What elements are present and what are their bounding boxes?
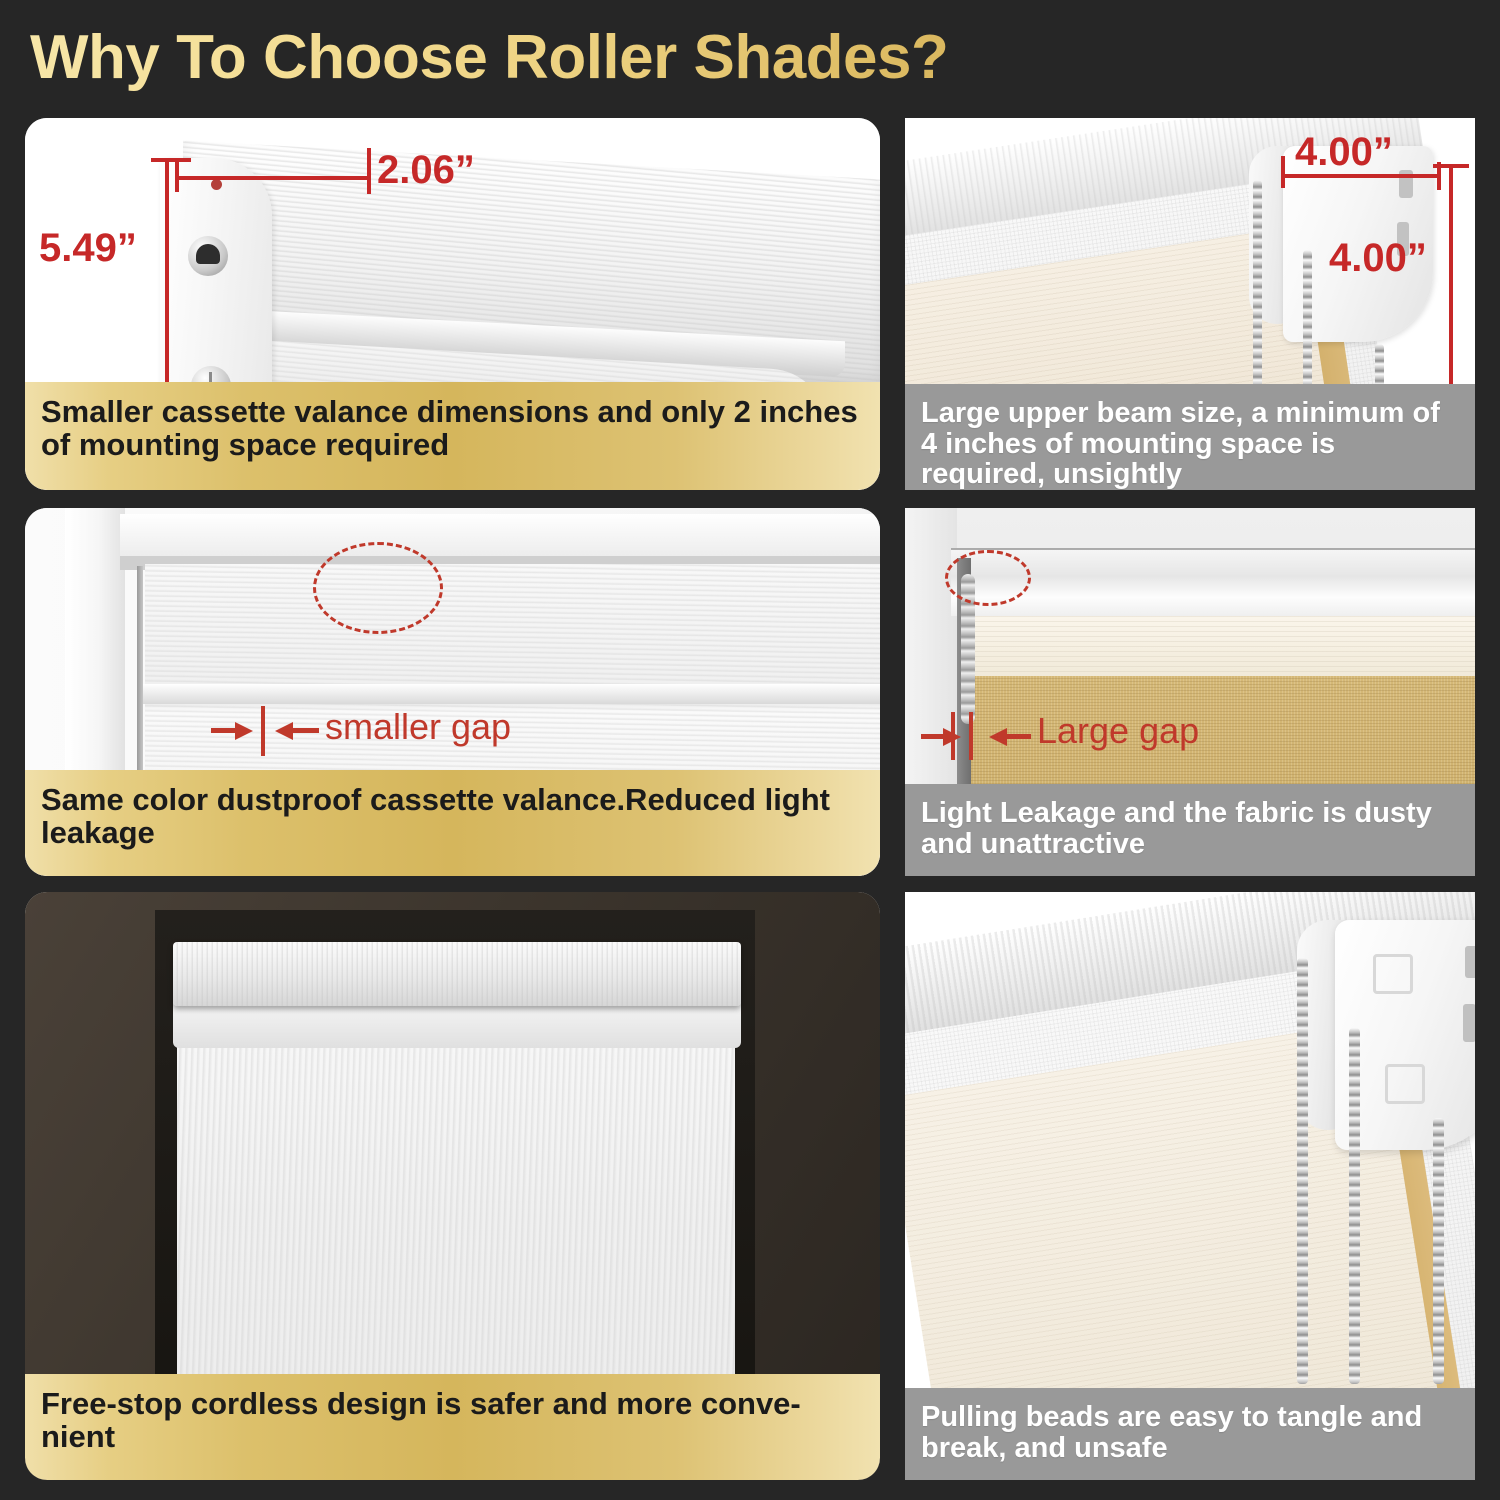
bracket-slot-upper [1465,946,1475,978]
panel-caption-large-gap: Light Leakage and the fabric is dusty an… [905,784,1475,876]
gap-measure-bar [261,706,265,756]
panel-caption-smaller-gap: Same color dustproof cassette valance.Re… [25,770,880,876]
panel-cordless: Free-stop cordless design is safer and m… [25,892,880,1480]
roller-shade-fabric [177,1044,735,1394]
highlight-dashed-circle [313,542,443,634]
panel-caption-pull-beads: Pulling beads are easy to tangle and bre… [905,1388,1475,1480]
gap-arrow-right-icon [235,722,253,740]
window-frame-head [120,514,880,560]
cassette-rail [143,684,880,704]
width-dim-tick-left [175,158,179,192]
beam-height-dim-line [1449,164,1453,394]
bead-chain-left [1253,180,1262,410]
beam-width-label: 4.00” [1295,130,1393,175]
highlight-dashed-circle [945,550,1031,606]
height-dim-tick-top [151,158,191,162]
large-gap-label: Large gap [1037,710,1199,752]
gap-measure-bar-a [951,712,955,760]
width-dim-line [175,176,371,180]
gap-measure-bar-b [969,712,973,760]
width-dimension-label: 2.06” [377,148,475,193]
panel-smaller-gap: smaller gap Same color dustproof cassett… [25,508,880,876]
panel-cassette-dimensions: 2.06” 5.49” Smaller cassette valance dim… [25,118,880,490]
bead-chain-right [1433,1118,1444,1384]
bracket-emboss-lower [1385,1064,1425,1104]
gap-arrow-tail-left [921,734,945,739]
smaller-gap-label: smaller gap [325,706,511,748]
bracket-slot-lower [1463,1004,1475,1042]
mount-clip-upper [188,236,228,276]
gap-arrow-tail-left [211,728,237,733]
screw-head-icon [211,179,222,190]
gap-arrow-tail-right [1005,734,1031,739]
gap-arrow-tail-right [293,728,319,733]
gap-arrow-left-icon [275,722,293,740]
beam-width-tick-left [1281,156,1285,188]
cassette-headrail [173,942,741,1006]
panel-large-gap: Large gap Light Leakage and the fabric i… [905,508,1475,876]
panel-pull-beads: Pulling beads are easy to tangle and bre… [905,892,1475,1480]
panel-caption-cordless: Free-stop cordless design is safer and m… [25,1374,880,1480]
bead-chain-middle [1349,1028,1360,1384]
infographic-root: Why To Choose Roller Shades? 2.06” 5.49”… [0,0,1500,1500]
panel-caption-large-beam: Large upper beam size, a minimum of 4 in… [905,384,1475,490]
panel-caption-cassette-dimensions: Smaller cassette valance dimensions and … [25,382,880,490]
height-dimension-label: 5.49” [39,226,137,271]
cream-fabric-band [971,612,1475,676]
page-title: Why To Choose Roller Shades? [30,22,1180,94]
bracket-emboss-upper [1373,954,1413,994]
bead-chain-left [1297,958,1308,1384]
beam-height-label: 4.00” [1329,236,1427,281]
panel-large-beam: 4.00” 4.00” Large upper beam size, a min… [905,118,1475,490]
width-dim-tick-right [367,148,371,194]
beam-height-tick-top [1433,164,1469,168]
cassette-valance [173,1000,741,1048]
